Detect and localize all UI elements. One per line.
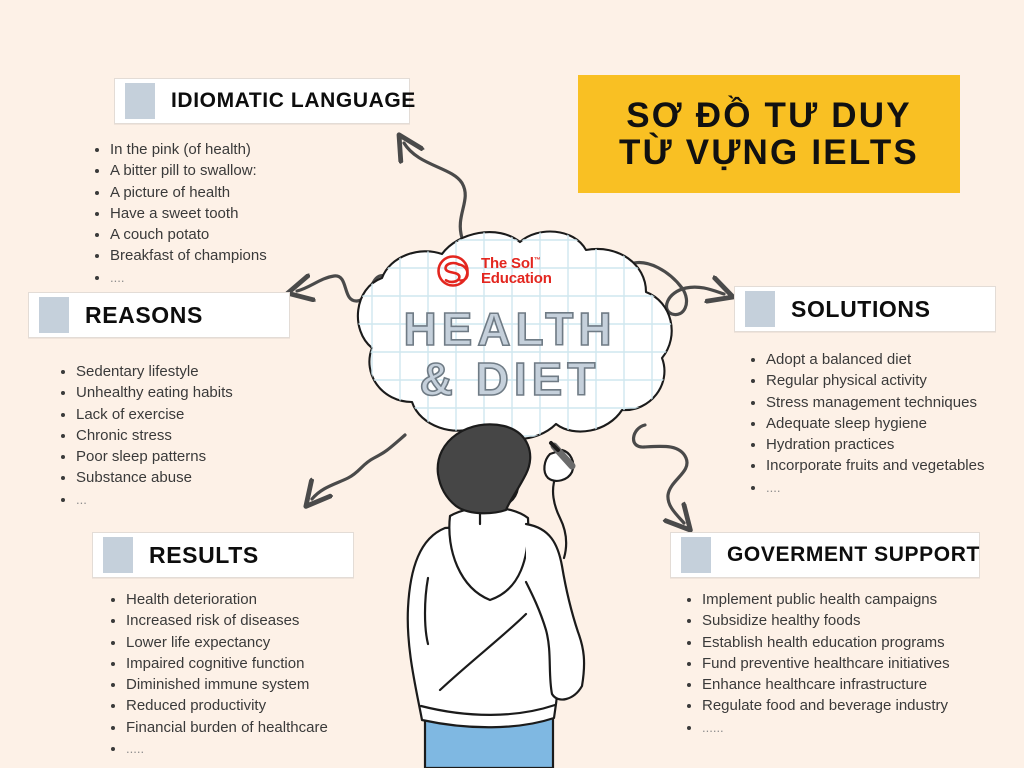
list-item: Enhance healthcare infrastructure (684, 674, 1004, 695)
section-header-goverment-support[interactable]: GOVERMENT SUPPORT (670, 532, 980, 578)
list-item: Adopt a balanced diet (748, 349, 1024, 370)
title-line-1: SƠ ĐỒ TƯ DUY (626, 97, 912, 134)
list-item: A picture of health (92, 182, 392, 203)
list-results: Health deterioration Increased risk of d… (108, 589, 398, 759)
sol-education-logo: The Sol™ Education (434, 254, 552, 288)
list-reasons: Sedentary lifestyle Unhealthy eating hab… (58, 361, 318, 510)
section-header-reasons[interactable]: REASONS (28, 292, 290, 338)
arrow-to-idiomatic-language (404, 143, 465, 238)
section-title: GOVERMENT SUPPORT (727, 543, 980, 567)
section-square-icon (681, 537, 711, 573)
section-square-icon (125, 83, 155, 119)
section-reasons: REASONS (28, 292, 290, 338)
section-square-icon (39, 297, 69, 333)
list-item: Diminished immune system (108, 674, 398, 695)
section-header-solutions[interactable]: SOLUTIONS (734, 286, 996, 332)
list-item: Stress management techniques (748, 392, 1024, 413)
title-line-2: TỪ VỰNG IELTS (619, 134, 919, 171)
list-item: Subsidize healthy foods (684, 610, 1004, 631)
list-item: Hydration practices (748, 434, 1024, 455)
list-item: Regulate food and beverage industry (684, 695, 1004, 716)
list-item-ellipsis: ...... (684, 717, 1004, 738)
section-title: REASONS (85, 302, 203, 329)
list-item: A couch potato (92, 224, 392, 245)
list-item: A bitter pill to swallow: (92, 160, 392, 181)
person-illustration (398, 418, 648, 768)
section-results: RESULTS (92, 532, 354, 578)
list-item: Regular physical activity (748, 370, 1024, 391)
list-item: Incorporate fruits and vegetables (748, 455, 1024, 476)
list-item: Sedentary lifestyle (58, 361, 318, 382)
sol-logo-text: The Sol™ Education (481, 256, 552, 287)
list-item: Poor sleep patterns (58, 446, 318, 467)
list-item: Lack of exercise (58, 404, 318, 425)
list-goverment-support: Implement public health campaigns Subsid… (684, 589, 1004, 738)
list-item: Financial burden of healthcare (108, 717, 398, 738)
list-item-ellipsis: .... (748, 477, 1024, 498)
topic-word-diet: & DIET (330, 352, 690, 406)
list-item: Unhealthy eating habits (58, 382, 318, 403)
list-item: Reduced productivity (108, 695, 398, 716)
list-idiomatic-language: In the pink (of health) A bitter pill to… (92, 139, 392, 288)
list-item: Breakfast of champions (92, 245, 392, 266)
section-idiomatic-language: IDIOMATIC LANGUAGE (114, 78, 410, 124)
sol-logo-mark (434, 254, 476, 288)
section-title: IDIOMATIC LANGUAGE (171, 89, 416, 113)
section-header-idiomatic-language[interactable]: IDIOMATIC LANGUAGE (114, 78, 410, 124)
list-item: In the pink (of health) (92, 139, 392, 160)
section-title: SOLUTIONS (791, 296, 931, 323)
list-item-ellipsis: .... (92, 267, 392, 288)
section-solutions: SOLUTIONS (734, 286, 996, 332)
section-header-results[interactable]: RESULTS (92, 532, 354, 578)
infographic-canvas: SƠ ĐỒ TƯ DUY TỪ VỰNG IELTS (0, 0, 1024, 768)
list-item: Implement public health campaigns (684, 589, 1004, 610)
list-item: Increased risk of diseases (108, 610, 398, 631)
list-item: Impaired cognitive function (108, 653, 398, 674)
list-item: Establish health education programs (684, 632, 1004, 653)
section-square-icon (103, 537, 133, 573)
list-item: Have a sweet tooth (92, 203, 392, 224)
list-item: Lower life expectancy (108, 632, 398, 653)
list-item-ellipsis: ..... (108, 738, 398, 759)
list-item: Chronic stress (58, 425, 318, 446)
hair (438, 424, 531, 513)
section-square-icon (745, 291, 775, 327)
list-item: Health deterioration (108, 589, 398, 610)
title-banner: SƠ ĐỒ TƯ DUY TỪ VỰNG IELTS (578, 75, 960, 193)
logo-trademark: ™ (534, 257, 541, 264)
section-title: RESULTS (149, 542, 259, 569)
list-item: Fund preventive healthcare initiatives (684, 653, 1004, 674)
list-item-ellipsis: ... (58, 489, 318, 510)
list-solutions: Adopt a balanced diet Regular physical a… (748, 349, 1024, 498)
list-item: Adequate sleep hygiene (748, 413, 1024, 434)
logo-line-2: Education (481, 271, 552, 286)
topic-word-health: HEALTH (330, 302, 690, 356)
list-item: Substance abuse (58, 467, 318, 488)
section-goverment-support: GOVERMENT SUPPORT (670, 532, 980, 578)
